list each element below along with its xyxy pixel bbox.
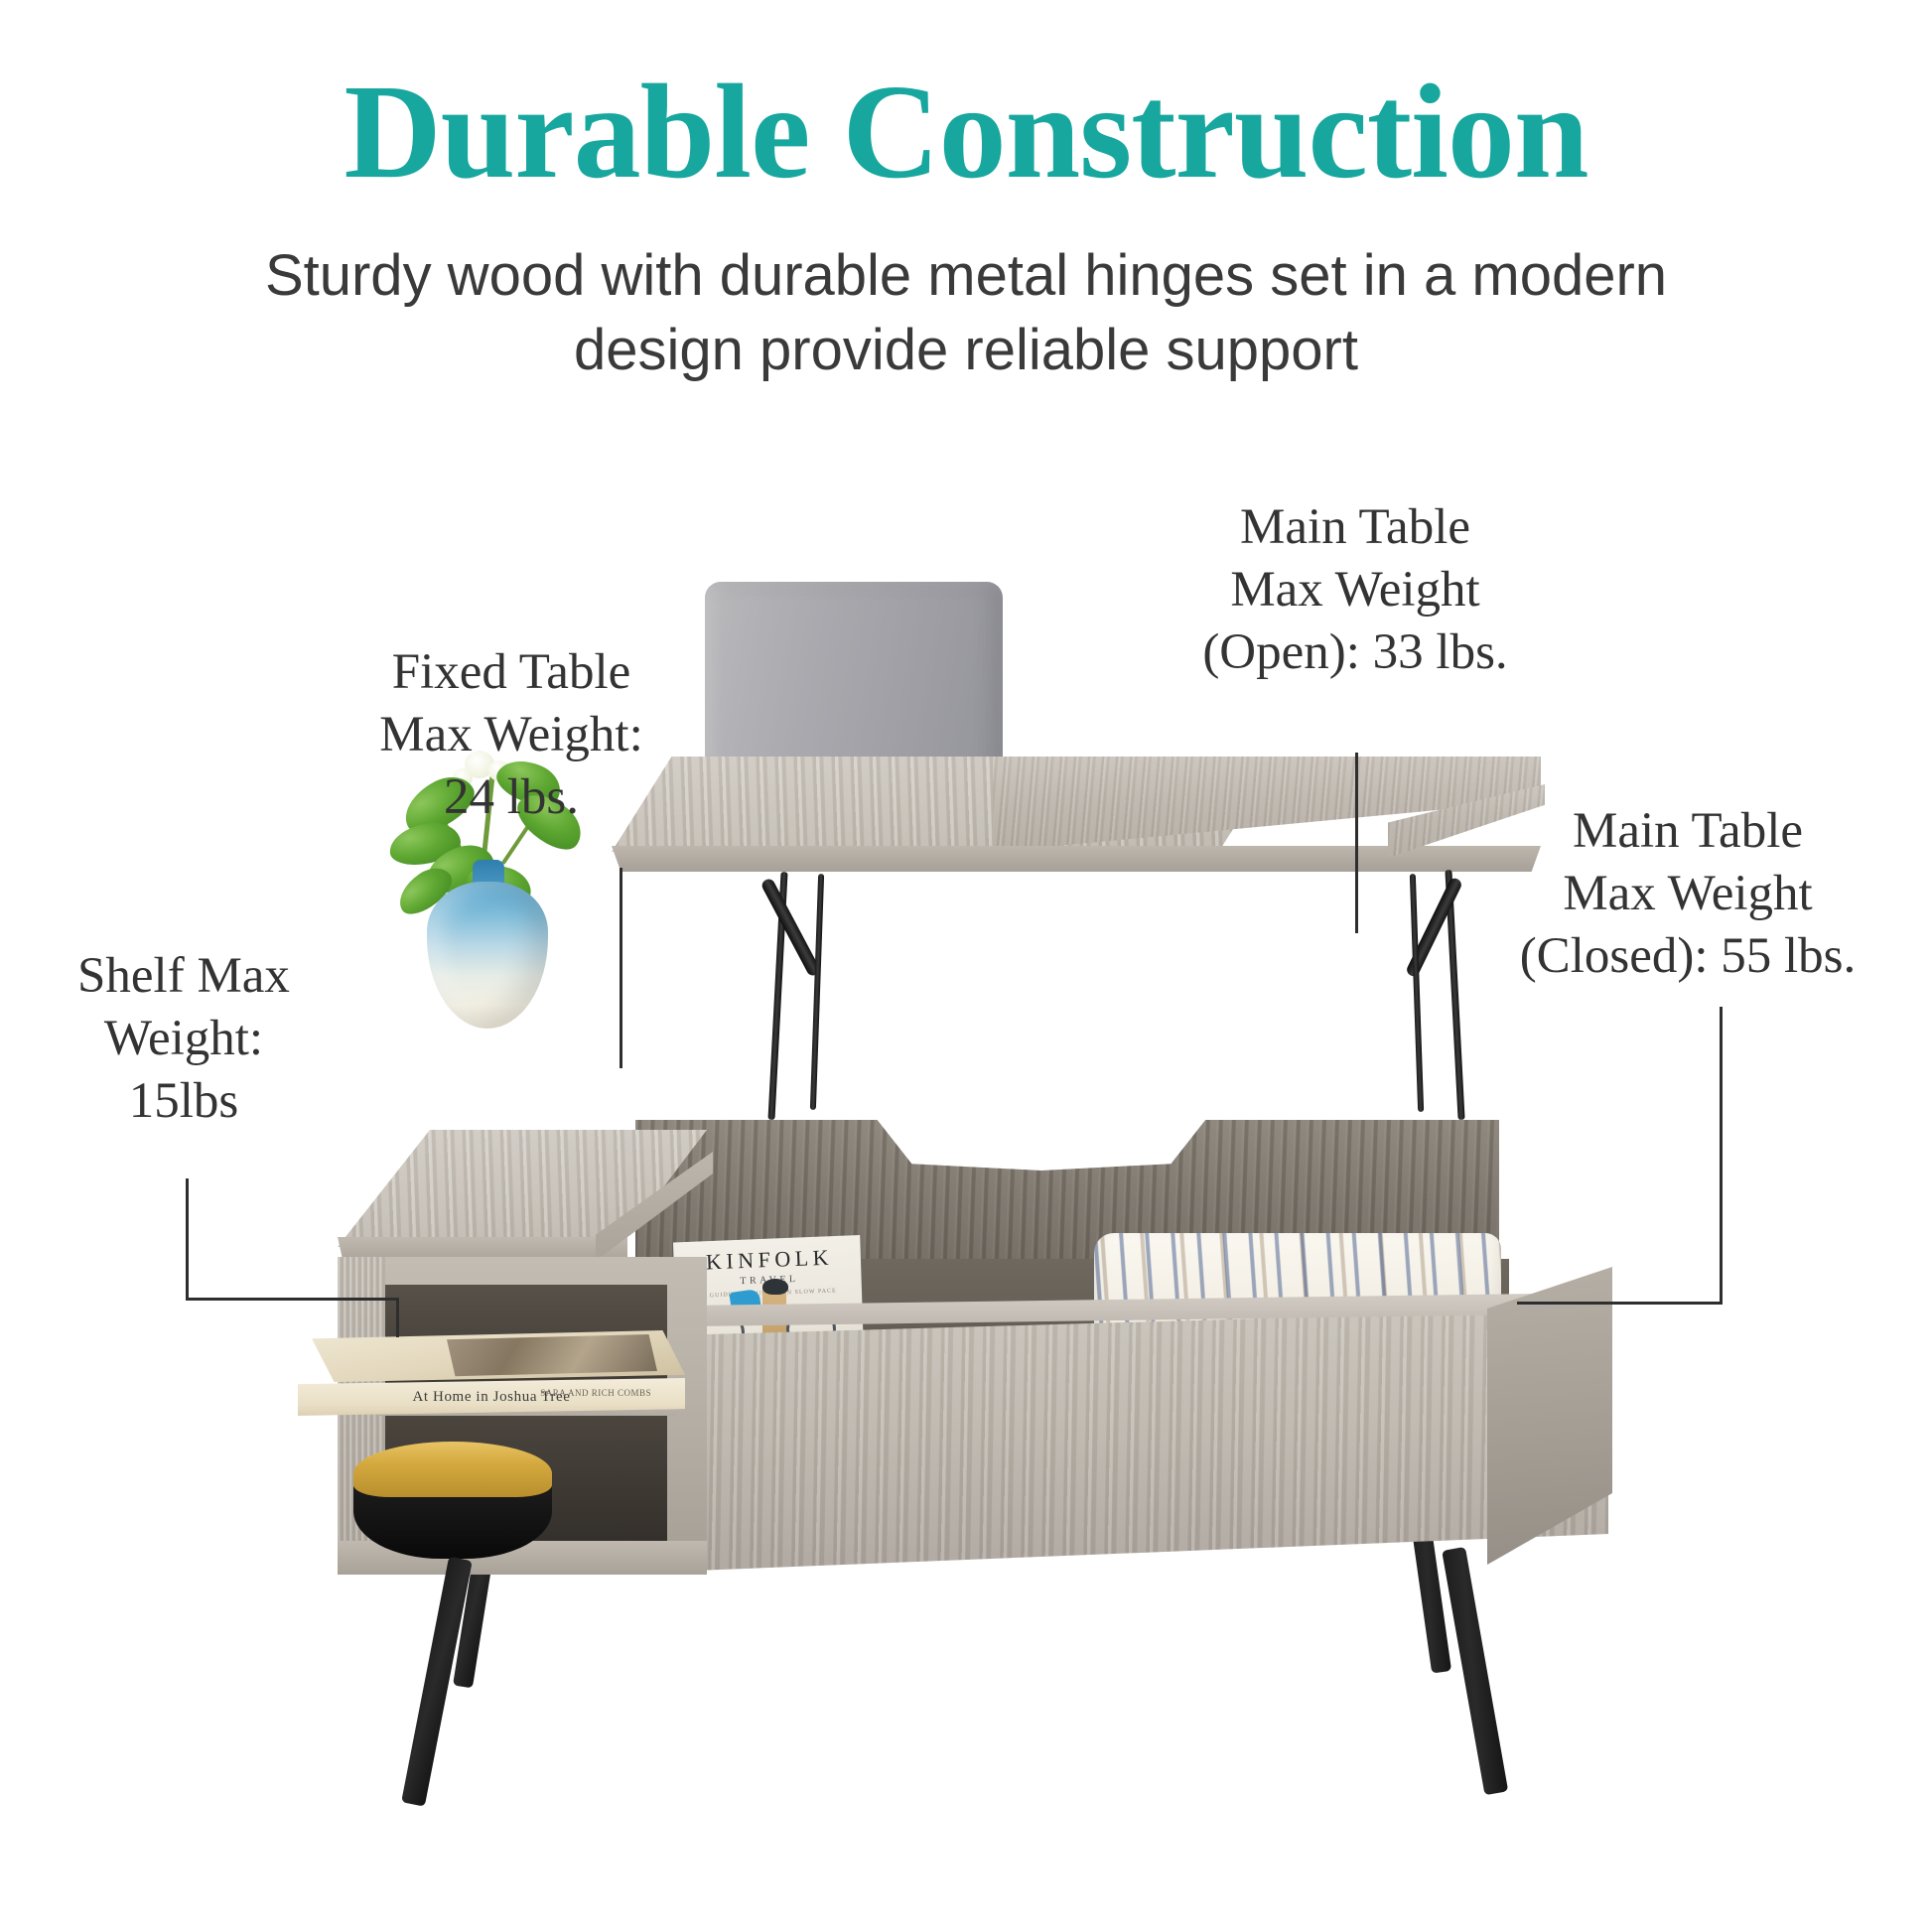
- leader-line-fixed-table: [620, 868, 622, 1068]
- table-leg-front-right: [1442, 1547, 1508, 1795]
- hinge-arm-right-inner: [1410, 874, 1424, 1112]
- hinge-gas-spring-left: [759, 877, 821, 977]
- bowl-gold-rim: [353, 1442, 552, 1497]
- book-stack: At Home in Joshua Tree SARA AND RICH COM…: [298, 1330, 685, 1416]
- storage-front-panel: [695, 1309, 1608, 1571]
- leader-line-main-open: [1355, 753, 1358, 933]
- callout-main-table-closed-weight: Main Table Max Weight (Closed): 55 lbs.: [1449, 800, 1926, 989]
- leader-line-main-closed-horizontal: [1517, 1302, 1723, 1305]
- leader-line-shelf-horizontal: [186, 1298, 399, 1301]
- callout-shelf-max-weight: Shelf Max Weight: 15lbs: [20, 945, 347, 1134]
- infographic-canvas: Durable Construction Sturdy wood with du…: [0, 0, 1932, 1932]
- magazine-cyclist-hat: [762, 1279, 788, 1295]
- leader-line-main-closed-vertical: [1720, 1007, 1723, 1305]
- leader-line-shelf-drop: [396, 1298, 399, 1337]
- book-cover-photo: [447, 1334, 657, 1378]
- ceramic-vase: [427, 882, 548, 1029]
- callout-fixed-table-max-weight: Fixed Table Max Weight: 24 lbs.: [347, 641, 675, 830]
- leader-line-shelf-vertical: [186, 1178, 189, 1300]
- book-authors: SARA AND RICH COMBS: [540, 1388, 651, 1399]
- hinge-arm-left-inner: [810, 874, 824, 1110]
- callout-main-table-open-weight: Main Table Max Weight (Open): 33 lbs.: [1117, 496, 1593, 685]
